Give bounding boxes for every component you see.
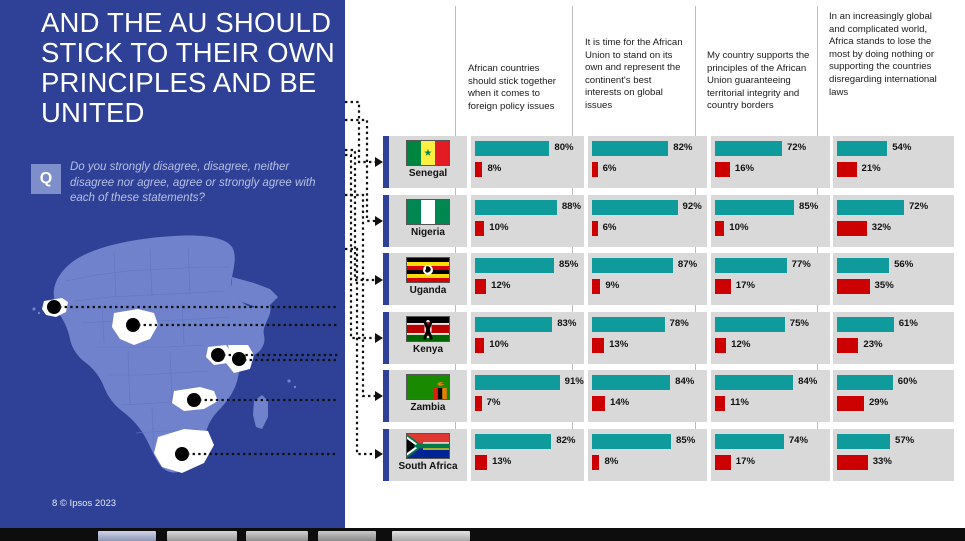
chart-cell: 72%32% xyxy=(833,195,954,247)
chart-cell: 80%8% xyxy=(471,136,584,188)
chart-cell: 82%6% xyxy=(588,136,707,188)
agree-bar xyxy=(592,141,668,156)
chart-cell: 72%16% xyxy=(711,136,830,188)
agree-bar xyxy=(475,200,557,215)
agree-bar xyxy=(837,258,889,273)
agree-value-label: 83% xyxy=(557,318,576,329)
agree-value-label: 75% xyxy=(790,318,809,329)
disagree-value-label: 13% xyxy=(492,456,511,467)
agree-value-label: 80% xyxy=(554,142,573,153)
africa-map xyxy=(18,205,338,490)
agree-bar xyxy=(475,141,549,156)
chart-cell: 87%9% xyxy=(588,253,707,305)
chart-cell: 85%10% xyxy=(711,195,830,247)
disagree-bar xyxy=(715,338,726,353)
agree-bar xyxy=(715,200,794,215)
disagree-bar xyxy=(592,162,598,177)
flag-icon xyxy=(406,316,450,342)
agree-bar xyxy=(837,375,893,390)
chart-cell: 77%17% xyxy=(711,253,830,305)
country-cell: Senegal xyxy=(389,136,467,188)
table-row: Kenya83%10%78%13%75%12%61%23% xyxy=(383,312,963,364)
disagree-value-label: 16% xyxy=(735,163,754,174)
agree-value-label: 92% xyxy=(683,201,702,212)
disagree-bar xyxy=(715,221,724,236)
column-header-3: My country supports the principles of th… xyxy=(707,50,811,113)
disagree-value-label: 10% xyxy=(489,222,508,233)
disagree-bar xyxy=(475,455,487,470)
disagree-bar xyxy=(837,162,857,177)
disagree-value-label: 35% xyxy=(875,280,894,291)
agree-value-label: 84% xyxy=(798,376,817,387)
agree-value-label: 60% xyxy=(898,376,917,387)
page-title: AND THE AU SHOULD STICK TO THEIR OWN PRI… xyxy=(41,8,341,128)
disagree-bar xyxy=(475,279,486,294)
table-row: Zambia91%7%84%14%84%11%60%29% xyxy=(383,370,963,422)
agree-bar xyxy=(592,375,670,390)
agree-bar xyxy=(837,317,894,332)
flag-icon xyxy=(406,433,450,459)
chart-cell: 60%29% xyxy=(833,370,954,422)
agree-value-label: 56% xyxy=(894,259,913,270)
country-label: Senegal xyxy=(389,168,467,179)
disagree-value-label: 10% xyxy=(729,222,748,233)
country-label: Nigeria xyxy=(389,227,467,238)
agree-bar xyxy=(475,434,551,449)
disagree-value-label: 21% xyxy=(862,163,881,174)
chart-cell: 84%14% xyxy=(588,370,707,422)
agree-value-label: 82% xyxy=(673,142,692,153)
agree-bar xyxy=(592,200,678,215)
disagree-value-label: 11% xyxy=(730,397,749,408)
flag-icon xyxy=(406,257,450,283)
taskbar-button-4[interactable] xyxy=(318,531,376,541)
disagree-value-label: 17% xyxy=(736,456,755,467)
map-marker-zambia xyxy=(187,393,201,407)
agree-value-label: 85% xyxy=(676,435,695,446)
disagree-value-label: 23% xyxy=(863,339,882,350)
chart-cell: 92%6% xyxy=(588,195,707,247)
flag-icon xyxy=(406,140,450,166)
disagree-bar xyxy=(837,279,870,294)
disagree-bar xyxy=(715,279,731,294)
chart-cell: 78%13% xyxy=(588,312,707,364)
flag-icon xyxy=(406,199,450,225)
disagree-value-label: 32% xyxy=(872,222,891,233)
agree-bar xyxy=(592,317,665,332)
agree-bar xyxy=(715,258,787,273)
agree-bar xyxy=(715,434,784,449)
agree-value-label: 54% xyxy=(892,142,911,153)
disagree-value-label: 8% xyxy=(604,456,618,467)
disagree-value-label: 33% xyxy=(873,456,892,467)
disagree-value-label: 12% xyxy=(731,339,750,350)
disagree-bar xyxy=(837,221,867,236)
slide-canvas: AND THE AU SHOULD STICK TO THEIR OWN PRI… xyxy=(0,0,965,541)
column-header-4: In an increasingly global and complicate… xyxy=(829,11,937,99)
table-row: Senegal80%8%82%6%72%16%54%21% xyxy=(383,136,963,188)
disagree-value-label: 17% xyxy=(736,280,755,291)
disagree-value-label: 14% xyxy=(610,397,629,408)
disagree-bar xyxy=(475,221,484,236)
disagree-value-label: 6% xyxy=(603,222,617,233)
disagree-value-label: 13% xyxy=(609,339,628,350)
country-label: South Africa xyxy=(389,461,467,472)
agree-value-label: 57% xyxy=(895,435,914,446)
disagree-bar xyxy=(592,396,605,411)
chart-cell: 75%12% xyxy=(711,312,830,364)
disagree-bar xyxy=(475,396,482,411)
agree-value-label: 72% xyxy=(909,201,928,212)
chart-cell: 84%11% xyxy=(711,370,830,422)
disagree-bar xyxy=(592,279,600,294)
chart-cell: 57%33% xyxy=(833,429,954,481)
chart-cell: 85%8% xyxy=(588,429,707,481)
country-label: Kenya xyxy=(389,344,467,355)
agree-value-label: 82% xyxy=(556,435,575,446)
agree-bar xyxy=(475,258,554,273)
disagree-bar xyxy=(592,338,604,353)
agree-bar xyxy=(837,141,887,156)
agree-bar xyxy=(837,200,904,215)
agree-bar xyxy=(715,375,793,390)
taskbar-button-1[interactable] xyxy=(98,531,156,541)
country-cell: Zambia xyxy=(389,370,467,422)
agree-value-label: 74% xyxy=(789,435,808,446)
agree-value-label: 78% xyxy=(670,318,689,329)
country-cell: South Africa xyxy=(389,429,467,481)
disagree-bar xyxy=(837,396,864,411)
taskbar-button-5[interactable] xyxy=(392,531,470,541)
agree-value-label: 84% xyxy=(675,376,694,387)
disagree-value-label: 9% xyxy=(605,280,619,291)
africa-map-svg xyxy=(18,205,338,490)
disagree-bar xyxy=(592,221,598,236)
column-header-2: It is time for the African Union to stan… xyxy=(585,37,685,113)
map-marker-nigeria xyxy=(126,318,140,332)
agree-value-label: 85% xyxy=(559,259,578,270)
disagree-bar xyxy=(837,338,858,353)
disagree-value-label: 6% xyxy=(603,163,617,174)
chart-cell: 88%10% xyxy=(471,195,584,247)
map-marker-kenya xyxy=(232,352,246,366)
chart-cell: 91%7% xyxy=(471,370,584,422)
disagree-value-label: 29% xyxy=(869,397,888,408)
map-marker-south-africa xyxy=(175,447,189,461)
chart-area: African countries should stick together … xyxy=(345,0,965,528)
question-badge: Q xyxy=(31,164,61,194)
country-cell: Uganda xyxy=(389,253,467,305)
disagree-value-label: 7% xyxy=(487,397,501,408)
agree-value-label: 77% xyxy=(792,259,811,270)
disagree-bar xyxy=(715,396,725,411)
disagree-value-label: 8% xyxy=(487,163,501,174)
disagree-bar xyxy=(715,455,731,470)
agree-bar xyxy=(475,375,560,390)
question-text: Do you strongly disagree, disagree, neit… xyxy=(70,160,326,207)
agree-value-label: 91% xyxy=(565,376,584,387)
agree-value-label: 61% xyxy=(899,318,918,329)
country-cell: Kenya xyxy=(389,312,467,364)
agree-value-label: 72% xyxy=(787,142,806,153)
country-label: Uganda xyxy=(389,285,467,296)
chart-cell: 54%21% xyxy=(833,136,954,188)
disagree-bar xyxy=(475,338,484,353)
footer-copyright: 8 © Ipsos 2023 xyxy=(52,498,116,509)
chart-cell: 74%17% xyxy=(711,429,830,481)
taskbar-button-2[interactable] xyxy=(167,531,237,541)
table-row: Uganda85%12%87%9%77%17%56%35% xyxy=(383,253,963,305)
flag-icon xyxy=(406,374,450,400)
agree-bar xyxy=(715,141,782,156)
agree-bar xyxy=(592,434,671,449)
disagree-bar xyxy=(715,162,730,177)
column-header-1: African countries should stick together … xyxy=(468,63,560,113)
agree-bar xyxy=(837,434,890,449)
taskbar-button-3[interactable] xyxy=(246,531,308,541)
os-taskbar[interactable] xyxy=(0,528,965,541)
table-row: South Africa82%13%85%8%74%17%57%33% xyxy=(383,429,963,481)
agree-value-label: 88% xyxy=(562,201,581,212)
chart-cell: 82%13% xyxy=(471,429,584,481)
left-title-panel: AND THE AU SHOULD STICK TO THEIR OWN PRI… xyxy=(0,0,345,528)
chart-cell: 56%35% xyxy=(833,253,954,305)
chart-cell: 61%23% xyxy=(833,312,954,364)
country-label: Zambia xyxy=(389,402,467,413)
agree-value-label: 87% xyxy=(678,259,697,270)
agree-value-label: 85% xyxy=(799,201,818,212)
map-marker-uganda xyxy=(211,348,225,362)
agree-bar xyxy=(592,258,673,273)
agree-bar xyxy=(475,317,552,332)
disagree-bar xyxy=(475,162,482,177)
disagree-bar xyxy=(837,455,868,470)
agree-bar xyxy=(715,317,785,332)
disagree-value-label: 12% xyxy=(491,280,510,291)
table-row: Nigeria88%10%92%6%85%10%72%32% xyxy=(383,195,963,247)
map-marker-senegal xyxy=(47,300,61,314)
chart-cell: 83%10% xyxy=(471,312,584,364)
chart-cell: 85%12% xyxy=(471,253,584,305)
disagree-value-label: 10% xyxy=(489,339,508,350)
disagree-bar xyxy=(592,455,599,470)
country-cell: Nigeria xyxy=(389,195,467,247)
